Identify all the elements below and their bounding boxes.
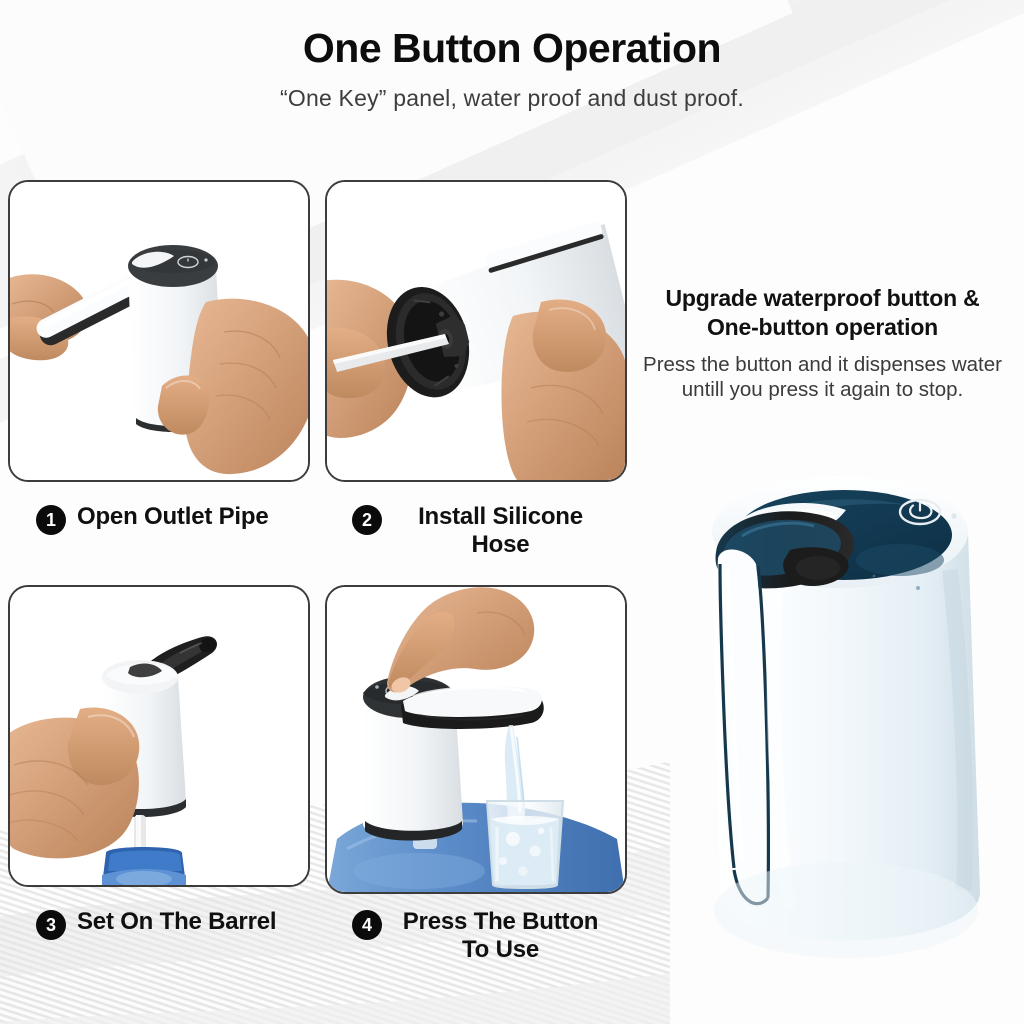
step-badge-1: 1 <box>36 505 66 535</box>
infographic-canvas: One Button Operation “One Key” panel, wa… <box>0 0 1024 1024</box>
step-caption-1: 1 Open Outlet Pipe <box>36 503 312 535</box>
step-label-1: Open Outlet Pipe <box>77 503 268 531</box>
step-3-illustration <box>10 587 308 885</box>
step-label-4: Press The Button To Use <box>393 908 608 965</box>
step-label-2: Install Silicone Hose <box>393 503 608 560</box>
feature-heading-line-2: One-button operation <box>630 313 1015 342</box>
header: One Button Operation “One Key” panel, wa… <box>0 26 1024 112</box>
step-caption-3: 3 Set On The Barrel <box>36 908 312 940</box>
step-caption-2: 2 Install Silicone Hose <box>352 503 608 560</box>
feature-body-text: Press the button and it dispenses water … <box>630 352 1015 403</box>
hero-product-illustration <box>650 440 1024 1000</box>
step-2-illustration <box>327 182 625 480</box>
step-label-3: Set On The Barrel <box>77 908 276 936</box>
page-title: One Button Operation <box>0 26 1024 71</box>
step-image-4 <box>325 585 627 894</box>
step-caption-4: 4 Press The Button To Use <box>352 908 608 965</box>
feature-heading-line-1: Upgrade waterproof button & <box>630 284 1015 313</box>
step-4-illustration <box>327 587 625 892</box>
step-image-3 <box>8 585 310 887</box>
step-image-1 <box>8 180 310 482</box>
step-image-2 <box>325 180 627 482</box>
step-badge-2: 2 <box>352 505 382 535</box>
hero-product-image <box>650 440 1024 1000</box>
step-badge-4: 4 <box>352 910 382 940</box>
feature-heading: Upgrade waterproof button & One-button o… <box>630 284 1015 341</box>
step-1-illustration <box>10 182 308 480</box>
step-badge-3: 3 <box>36 910 66 940</box>
feature-callout: Upgrade waterproof button & One-button o… <box>630 284 1015 403</box>
page-subtitle: “One Key” panel, water proof and dust pr… <box>0 85 1024 112</box>
